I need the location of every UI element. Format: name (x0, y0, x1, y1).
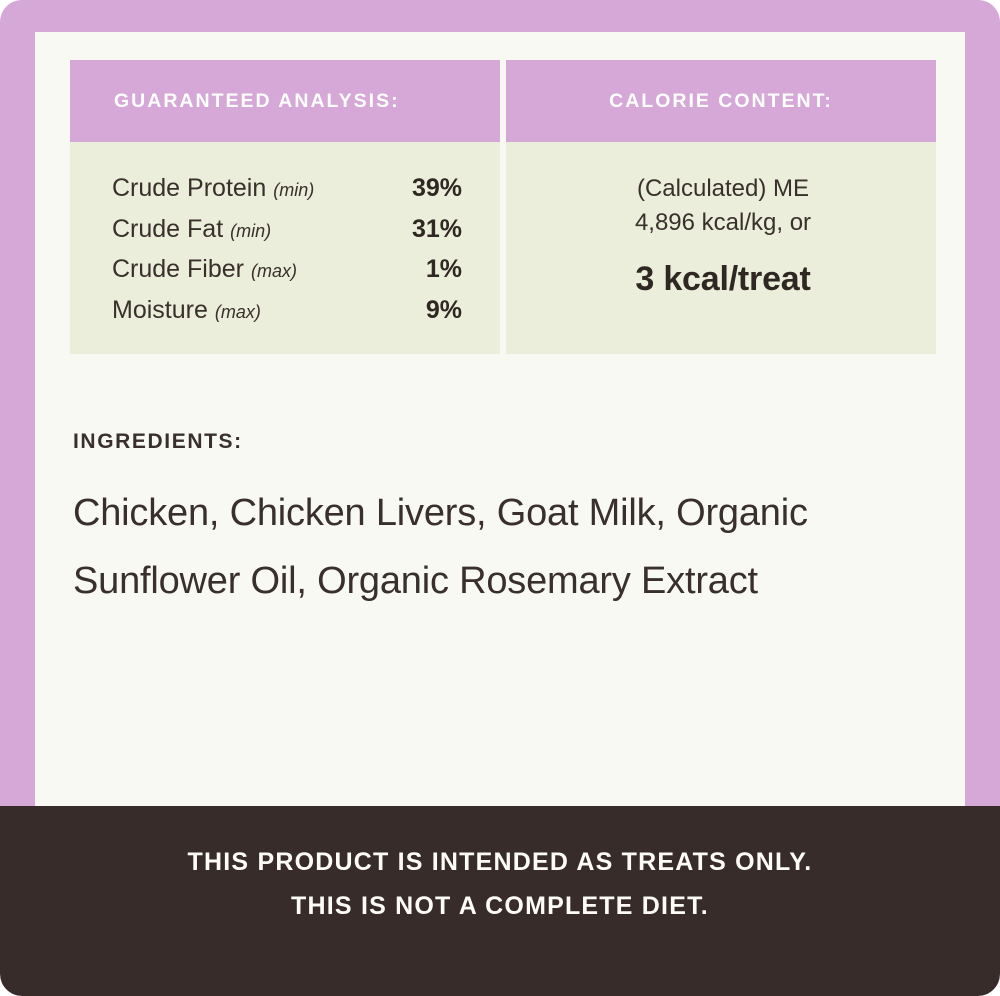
disclaimer-line-2: THIS IS NOT A COMPLETE DIET. (291, 884, 709, 929)
ga-row-label: Crude Fiber (max) (112, 249, 393, 290)
ga-row-value: 31% (393, 209, 462, 250)
disclaimer-footer: THIS PRODUCT IS INTENDED AS TREATS ONLY.… (0, 806, 1000, 996)
nutrition-panels: GUARANTEED ANALYSIS: Crude Protein (min)… (70, 60, 936, 354)
guaranteed-analysis-header: GUARANTEED ANALYSIS: (70, 60, 500, 142)
ga-nutrient-name: Moisture (112, 296, 208, 324)
ga-row-label: Crude Fat (min) (112, 209, 393, 250)
calorie-me-line: (Calculated) ME (548, 172, 898, 206)
table-row: Moisture (max) 9% (112, 290, 462, 331)
ingredients-section: INGREDIENTS: Chicken, Chicken Livers, Go… (73, 430, 933, 615)
ga-nutrient-name: Crude Protein (112, 174, 266, 202)
ingredients-heading: INGREDIENTS: (73, 430, 933, 454)
ga-qualifier: (max) (251, 261, 297, 281)
ga-row-label: Moisture (max) (112, 290, 393, 331)
ga-row-value: 9% (393, 290, 462, 331)
calorie-content-body: (Calculated) ME 4,896 kcal/kg, or 3 kcal… (506, 142, 936, 354)
calorie-per-kg-line: 4,896 kcal/kg, or (548, 206, 898, 240)
ga-nutrient-name: Crude Fat (112, 215, 223, 243)
pet-treat-label-card: GUARANTEED ANALYSIS: Crude Protein (min)… (0, 0, 1000, 996)
table-row: Crude Fat (min) 31% (112, 209, 462, 250)
table-row: Crude Protein (min) 39% (112, 168, 462, 209)
guaranteed-analysis-table: Crude Protein (min) 39% Crude Fat (min) … (112, 168, 462, 330)
calorie-content-title: CALORIE CONTENT: (609, 90, 833, 113)
ga-nutrient-name: Crude Fiber (112, 255, 244, 283)
ga-qualifier: (max) (215, 302, 261, 322)
guaranteed-analysis-title: GUARANTEED ANALYSIS: (114, 90, 400, 113)
disclaimer-line-1: THIS PRODUCT IS INTENDED AS TREATS ONLY. (188, 840, 813, 885)
ga-qualifier: (min) (230, 221, 271, 241)
ga-row-value: 1% (393, 249, 462, 290)
ga-row-value: 39% (393, 168, 462, 209)
ga-qualifier: (min) (273, 180, 314, 200)
calorie-content-header: CALORIE CONTENT: (506, 60, 936, 142)
ga-row-label: Crude Protein (min) (112, 168, 393, 209)
calorie-per-treat-value: 3 kcal/treat (548, 260, 898, 299)
guaranteed-analysis-body: Crude Protein (min) 39% Crude Fat (min) … (70, 142, 500, 354)
guaranteed-analysis-panel: GUARANTEED ANALYSIS: Crude Protein (min)… (70, 60, 500, 354)
ingredients-list-text: Chicken, Chicken Livers, Goat Milk, Orga… (73, 480, 908, 615)
calorie-content-panel: CALORIE CONTENT: (Calculated) ME 4,896 k… (506, 60, 936, 354)
table-row: Crude Fiber (max) 1% (112, 249, 462, 290)
